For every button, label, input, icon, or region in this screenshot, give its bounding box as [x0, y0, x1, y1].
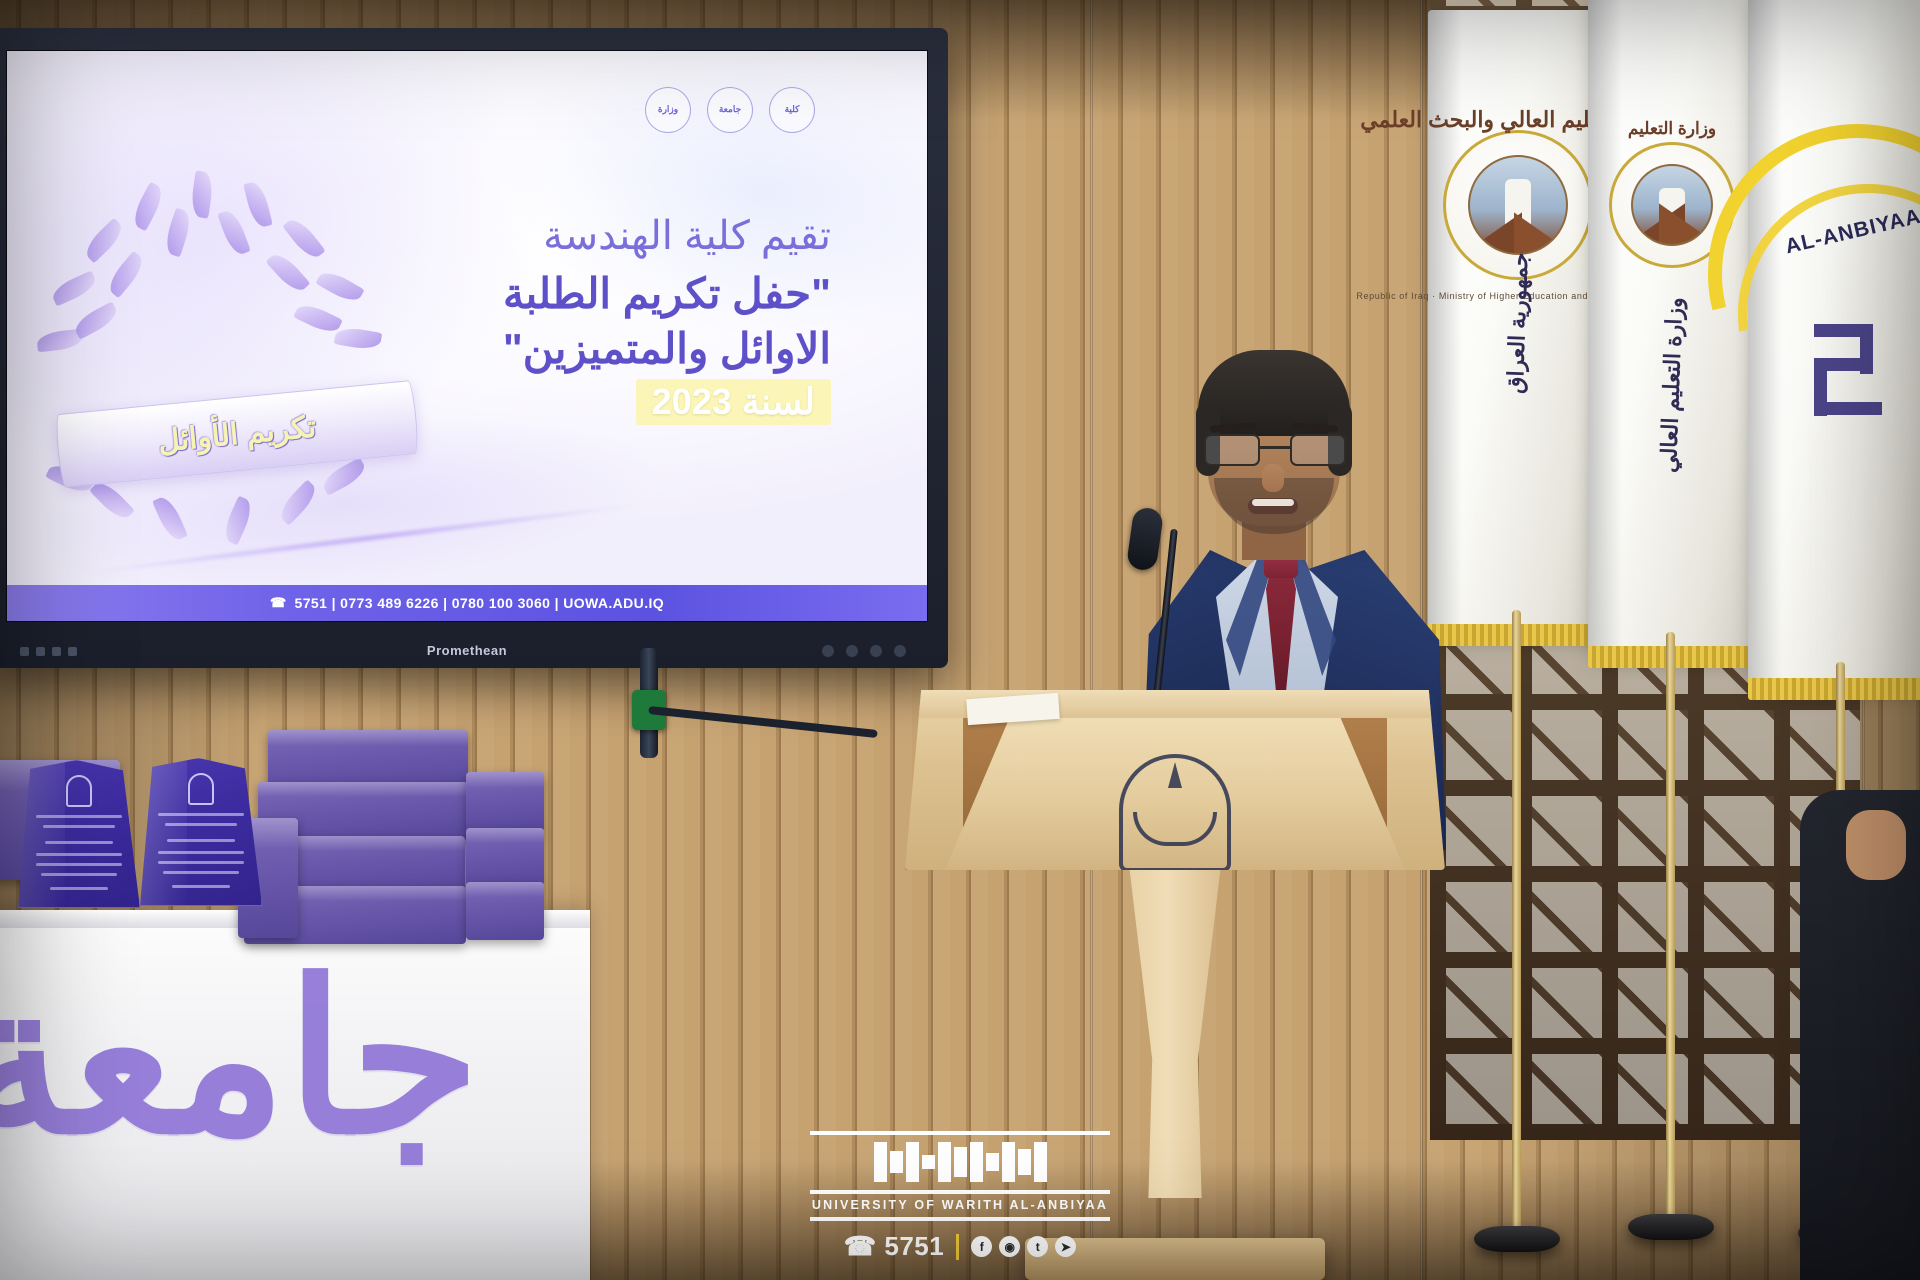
- headline-line-2: "حفل تكريم الطلبة: [271, 269, 831, 318]
- slide-logo-row: وزارة جامعة كلية: [645, 87, 815, 133]
- ministry-flag-2-cloth: وزارة التعليم وزارة التعليم العالي: [1588, 0, 1756, 652]
- watermark-divider: [956, 1234, 959, 1260]
- telegram-icon[interactable]: ➤: [1055, 1236, 1076, 1257]
- ministry-seal-2-arabic: وزارة التعليم: [1628, 119, 1716, 139]
- ministry-flag-arabic-text: جمهورية العراق: [1503, 252, 1534, 394]
- table-arabic-artwork: جامعة: [0, 956, 480, 1276]
- attendee-hand: [1846, 810, 1906, 880]
- flag-fold-shadow: [1588, 0, 1622, 652]
- emblem-pen-icon: [1168, 762, 1182, 788]
- display-brand-label: Promethean: [0, 643, 948, 658]
- logo-university-icon: جامعة: [707, 87, 753, 133]
- university-flag-mark: [1804, 324, 1900, 420]
- award-plaque[interactable]: [18, 760, 140, 908]
- flag-fold-shadow: [1748, 0, 1782, 684]
- watermark-rule-bottom: [810, 1217, 1110, 1221]
- phone-icon: ☎: [270, 595, 287, 611]
- podium-desk: وارث الأنبياء: [905, 690, 1445, 870]
- gift-box[interactable]: [466, 772, 544, 832]
- slide-headline: تقيم كلية الهندسة "حفل تكريم الطلبة الاو…: [271, 213, 831, 425]
- watermark-logo-icon: [810, 1139, 1110, 1185]
- phone-icon: ☎: [844, 1231, 877, 1261]
- twitter-icon[interactable]: t: [1027, 1236, 1048, 1257]
- display-screen[interactable]: وزارة جامعة كلية: [6, 50, 928, 622]
- eyeglasses-icon: [1202, 434, 1348, 468]
- flag-base: [1628, 1214, 1714, 1240]
- lens-left: [1204, 434, 1260, 466]
- watermark-phone-number: 5751: [884, 1231, 944, 1261]
- ministry-seal-2-emblem: [1631, 164, 1713, 246]
- headline-line-1: تقيم كلية الهندسة: [271, 213, 831, 259]
- logo-ministry-icon: وزارة: [645, 87, 691, 133]
- gift-box[interactable]: [466, 882, 544, 940]
- watermark-english-name: UNIVERSITY OF WARITH AL-ANBIYAA: [810, 1198, 1110, 1212]
- teeth: [1252, 499, 1294, 506]
- headline-year-highlight: لسنة 2023: [636, 379, 831, 425]
- ministry-flag-2-arabic-text: وزارة التعليم العالي: [1656, 297, 1688, 473]
- smart-display-board[interactable]: وزارة جامعة كلية: [0, 28, 948, 668]
- award-plaque[interactable]: [140, 758, 262, 906]
- slide-contact-footer: ☎ 5751 | 0773 489 6226 | 0780 100 3060 |…: [7, 585, 927, 621]
- gift-box[interactable]: [466, 828, 544, 886]
- ministry-seal-emblem: [1468, 155, 1568, 255]
- photo-watermark: UNIVERSITY OF WARITH AL-ANBIYAA ☎ 5751 f…: [810, 1126, 1110, 1262]
- flag-pole: [1512, 610, 1521, 1230]
- instagram-icon[interactable]: ◉: [999, 1236, 1020, 1257]
- flag-gold-fringe: [1748, 678, 1920, 700]
- watermark-phone: ☎ 5751: [844, 1231, 944, 1262]
- lens-right: [1290, 434, 1346, 466]
- nose: [1262, 464, 1284, 492]
- university-emblem-icon: وارث الأنبياء: [1107, 754, 1243, 890]
- university-flag-cloth: AL-ANBIYAA: [1748, 0, 1920, 684]
- awards-display-table: جامعة: [0, 910, 590, 1280]
- watermark-rule-top: [810, 1131, 1110, 1135]
- flag-pole: [1666, 632, 1675, 1222]
- screenshot-stage: وزارة جامعة كلية: [0, 0, 1920, 1280]
- slide-contact-text: 5751 | 0773 489 6226 | 0780 100 3060 | U…: [295, 595, 665, 611]
- glasses-bridge: [1260, 446, 1290, 449]
- headline-line-3: الاوائل والمتميزين": [271, 324, 831, 373]
- presentation-slide: وزارة جامعة كلية: [7, 51, 927, 621]
- display-port-row[interactable]: [822, 645, 906, 657]
- plaque-emblem-icon: [188, 773, 214, 805]
- watermark-contact-row: ☎ 5751 f ◉ t ➤: [810, 1231, 1110, 1262]
- flag-base: [1474, 1226, 1560, 1252]
- facebook-icon[interactable]: f: [971, 1236, 992, 1257]
- plaque-emblem-icon: [66, 775, 92, 807]
- logo-college-icon: كلية: [769, 87, 815, 133]
- watermark-social-icons[interactable]: f ◉ t ➤: [971, 1236, 1076, 1257]
- watermark-rule-mid: [810, 1190, 1110, 1194]
- podium-front-panel: وارث الأنبياء: [945, 718, 1405, 870]
